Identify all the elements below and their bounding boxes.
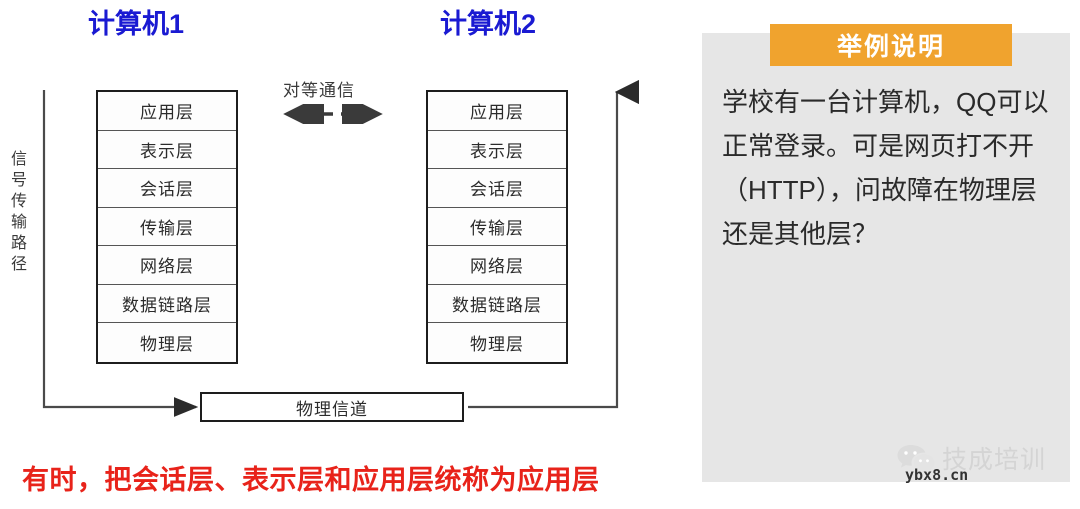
layer-cell: 网络层 — [428, 246, 566, 285]
computer-1-title: 计算机1 — [88, 2, 184, 41]
layer-cell: 物理层 — [98, 323, 236, 362]
layer-stack-computer-2: 应用层 表示层 会话层 传输层 网络层 数据链路层 物理层 — [426, 90, 568, 364]
layer-cell: 数据链路层 — [98, 285, 236, 324]
layer-cell: 物理层 — [428, 323, 566, 362]
layer-cell: 应用层 — [98, 92, 236, 131]
layer-cell: 网络层 — [98, 246, 236, 285]
peer-communication-label: 对等通信 — [283, 76, 355, 101]
layer-cell: 数据链路层 — [428, 285, 566, 324]
example-badge: 举例说明 — [770, 24, 1012, 66]
summary-caption: 有时，把会话层、表示层和应用层统称为应用层 — [22, 458, 600, 497]
layer-stack-computer-1: 应用层 表示层 会话层 传输层 网络层 数据链路层 物理层 — [96, 90, 238, 364]
signal-path-label: 信号传输路径 — [8, 148, 30, 274]
layer-cell: 会话层 — [98, 169, 236, 208]
osi-layer-diagram: 计算机1 计算机2 信号传输路径 对等通信 应 — [0, 0, 695, 509]
example-body-text: 学校有一台计算机，QQ可以正常登录。可是网页打不开（HTTP），问故障在物理层还… — [722, 80, 1052, 256]
physical-channel-box: 物理信道 — [200, 392, 464, 422]
computer-2-title: 计算机2 — [440, 2, 536, 41]
layer-cell: 表示层 — [428, 131, 566, 170]
watermark-site: ybx8.cn — [905, 466, 968, 484]
peer-communication-dashed-arrow — [276, 104, 390, 124]
layer-cell: 传输层 — [98, 208, 236, 247]
layer-cell: 传输层 — [428, 208, 566, 247]
layer-cell: 会话层 — [428, 169, 566, 208]
layer-cell: 应用层 — [428, 92, 566, 131]
layer-cell: 表示层 — [98, 131, 236, 170]
